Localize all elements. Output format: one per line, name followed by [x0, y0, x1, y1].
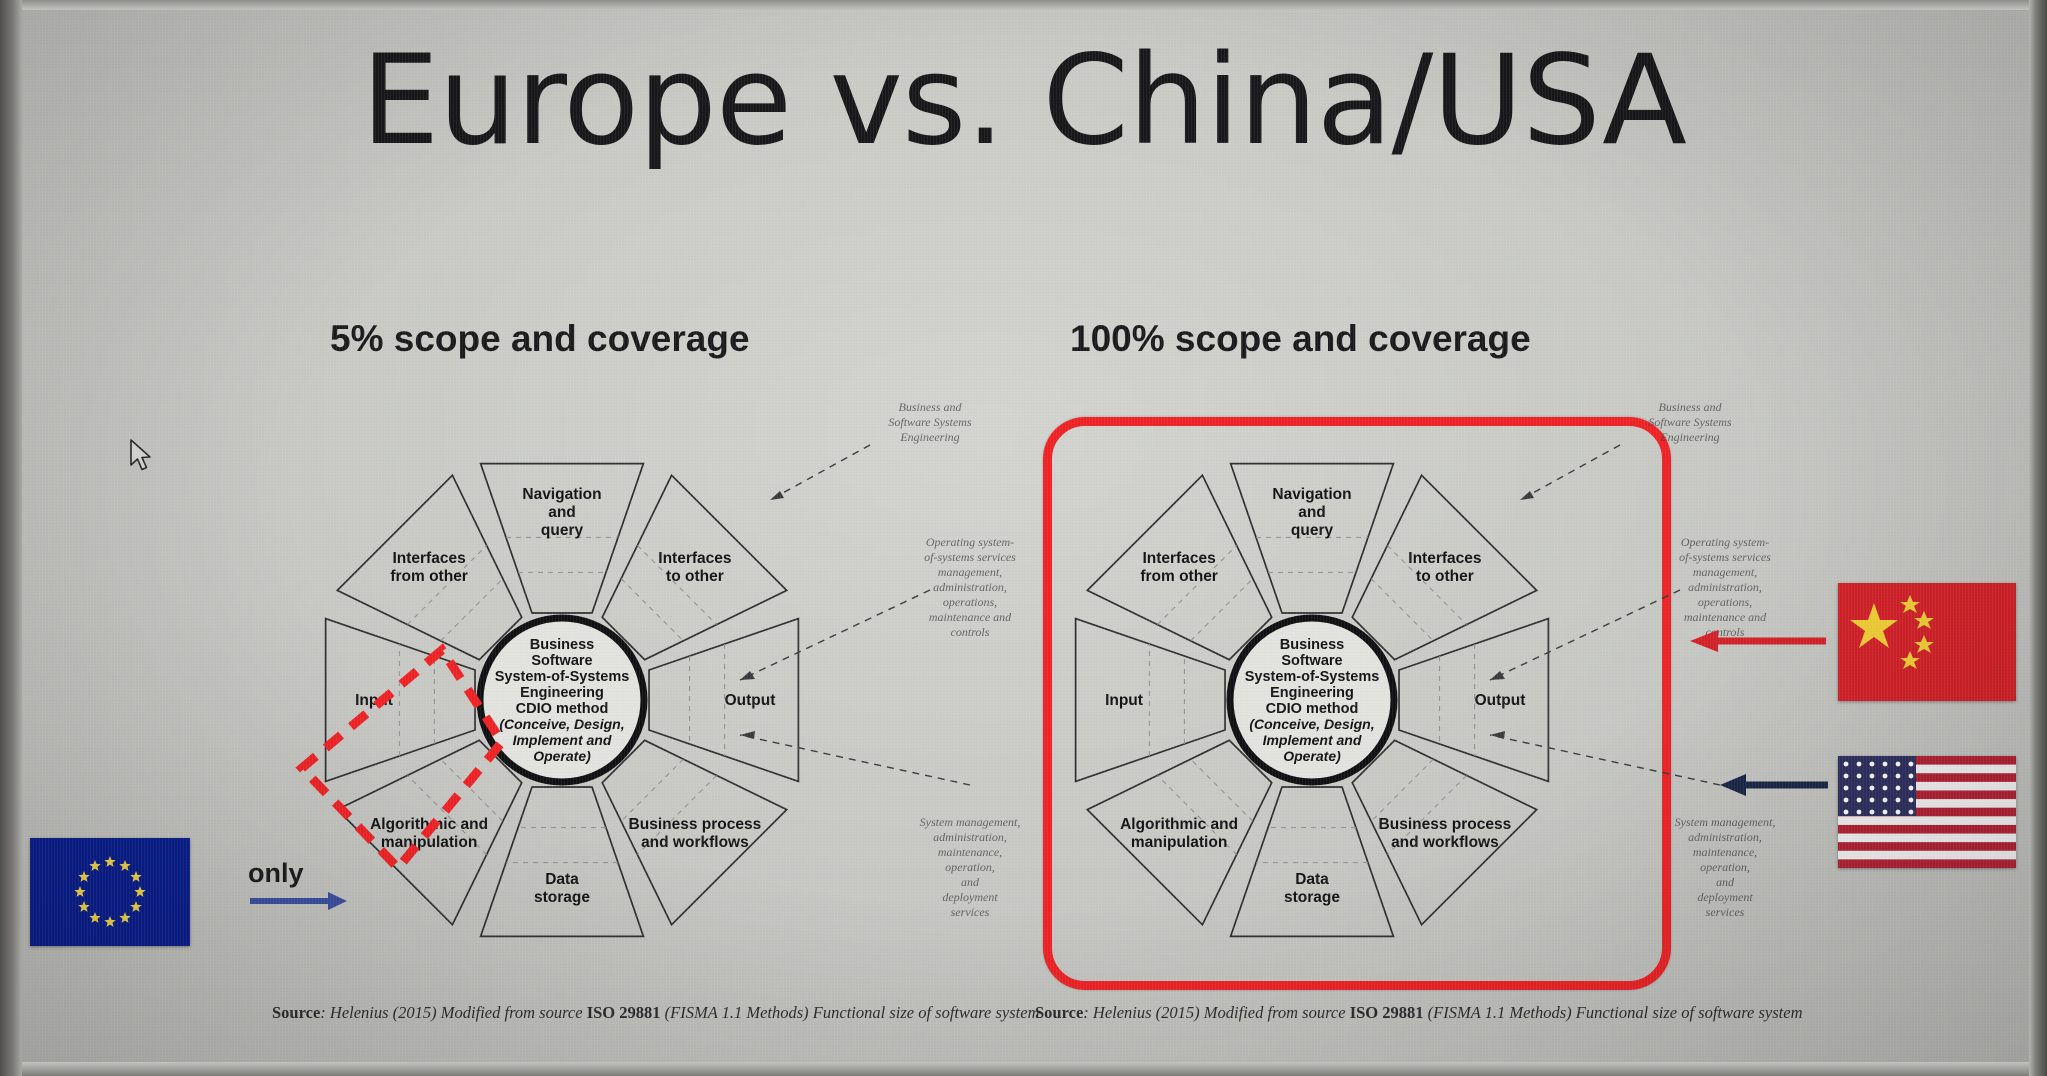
center-text-line: System-of-Systems — [495, 669, 630, 685]
annotation-line: administration, — [1660, 830, 1790, 845]
us-star — [1844, 810, 1849, 815]
annotation-line: management, — [1660, 565, 1790, 580]
subtitle-left: 5% scope and coverage — [330, 318, 750, 360]
petal-diagram-right: NavigationandqueryInterfacesto otherOutp… — [1020, 390, 1740, 1040]
source-standard: ISO 29881 — [587, 1003, 661, 1022]
center-text-line: Implement and — [513, 732, 612, 748]
china-flag-stars — [1838, 583, 2016, 701]
source-note-right: Source: Helenius (2015) Modified from so… — [1035, 1003, 1803, 1023]
center-text-line: Operate) — [533, 748, 591, 764]
center-text-line: Business — [1280, 637, 1344, 653]
petal-label-input: Input — [1105, 692, 1143, 709]
arrow-eu-to-left-panel — [248, 890, 348, 912]
us-star — [1909, 774, 1914, 779]
diagram-panel-right: NavigationandqueryInterfacesto otherOutp… — [1020, 390, 1740, 1040]
annotation-line: maintenance, — [905, 845, 1035, 860]
petal-input — [326, 619, 475, 782]
annotation-line: deployment — [1660, 890, 1790, 905]
us-star — [1857, 798, 1862, 803]
china-flag — [1838, 583, 2016, 701]
annotation-system-management-right: System management,administration,mainten… — [1660, 815, 1790, 920]
annotation-line: System management, — [905, 815, 1035, 830]
source-standard: ISO 29881 — [1350, 1003, 1424, 1022]
annotation-line: System management, — [1660, 815, 1790, 830]
us-stripe — [1838, 825, 2016, 834]
arrow-usa-to-right-panel — [1718, 772, 1830, 798]
center-text-line: Implement and — [1263, 732, 1362, 748]
annotation-line: Operating system- — [1660, 535, 1790, 550]
petal-label-navigation: Navigationandquery — [1272, 486, 1351, 539]
page-title: Europe vs. China/USA — [0, 36, 2047, 166]
us-star — [1870, 798, 1875, 803]
petal-label-interfaces-to-other: Interfacesto other — [1408, 550, 1481, 585]
us-star — [1844, 786, 1849, 791]
photo-edge-right — [2029, 0, 2047, 1076]
usa-flag-stripes — [1838, 756, 2016, 868]
us-star — [1857, 810, 1862, 815]
annotation-line: Business and — [865, 400, 995, 415]
annotation-line: maintenance and — [905, 610, 1035, 625]
annotation-line: deployment — [905, 890, 1035, 905]
annotation-line: Operating system- — [905, 535, 1035, 550]
petal-label-business-process: Business processand workflows — [629, 816, 762, 851]
petal-label-business-process: Business processand workflows — [1379, 816, 1512, 851]
usa-flag — [1838, 756, 2016, 868]
annotation-line: Software Systems — [865, 415, 995, 430]
petal-diagram-left: NavigationandqueryInterfacesto otherOutp… — [270, 390, 990, 1040]
us-star — [1870, 774, 1875, 779]
annotation-line: of-systems services — [1660, 550, 1790, 565]
us-star — [1883, 786, 1888, 791]
source-label: Source — [1035, 1003, 1083, 1022]
center-text-line: Software — [531, 653, 592, 669]
petal-data-storage — [1231, 787, 1394, 936]
petal-label-output: Output — [1475, 692, 1526, 709]
us-star — [1857, 774, 1862, 779]
petal-label-interfaces-to-other: Interfacesto other — [658, 550, 731, 585]
us-star — [1844, 774, 1849, 779]
annotation-line: Engineering — [1625, 430, 1755, 445]
center-text-line: Operate) — [1283, 748, 1341, 764]
center-text-line: System-of-Systems — [1245, 669, 1380, 685]
us-star — [1909, 798, 1914, 803]
annotation-business-software-systems-engineering-left: Business andSoftware SystemsEngineering — [865, 400, 995, 445]
us-star — [1909, 762, 1914, 767]
annotation-line: of-systems services — [905, 550, 1035, 565]
annotation-line: management, — [905, 565, 1035, 580]
center-text-line: CDIO method — [516, 701, 609, 717]
annotation-line: operations, — [905, 595, 1035, 610]
only-label: only — [248, 858, 304, 889]
us-stripe — [1838, 859, 2016, 868]
eu-flag-stars — [30, 838, 190, 946]
us-star — [1909, 810, 1914, 815]
us-star — [1870, 786, 1875, 791]
annotation-line: operation, — [905, 860, 1035, 875]
center-text-line: CDIO method — [1266, 701, 1359, 717]
annotation-operating-system-services-left: Operating system-of-systems servicesmana… — [905, 535, 1035, 640]
us-star — [1870, 762, 1875, 767]
annotation-line: administration, — [1660, 580, 1790, 595]
annotation-line: services — [1660, 905, 1790, 920]
center-text-line: Software — [1281, 653, 1342, 669]
annotation-line: services — [905, 905, 1035, 920]
petal-label-output: Output — [725, 692, 776, 709]
us-star — [1896, 786, 1901, 791]
us-star — [1883, 774, 1888, 779]
us-star — [1870, 810, 1875, 815]
petal-label-algorithmic: Algorithmic andmanipulation — [1120, 816, 1238, 851]
annotation-line: Engineering — [865, 430, 995, 445]
mouse-cursor — [128, 438, 156, 474]
us-stripe — [1838, 842, 2016, 851]
annotation-line: maintenance and — [1660, 610, 1790, 625]
source-label: Source — [272, 1003, 320, 1022]
us-star — [1857, 762, 1862, 767]
petal-input — [1076, 619, 1225, 782]
us-star — [1896, 762, 1901, 767]
annotation-line: and — [905, 875, 1035, 890]
us-star — [1909, 786, 1914, 791]
slide-screenshot: Europe vs. China/USA 5% scope and covera… — [0, 0, 2047, 1076]
annotation-line: administration, — [905, 830, 1035, 845]
petal-label-data-storage: Datastorage — [534, 871, 590, 906]
annotation-system-management-left: System management,administration,mainten… — [905, 815, 1035, 920]
arrow-china-to-right-panel — [1688, 628, 1828, 654]
center-text-line: Engineering — [520, 685, 604, 701]
annotation-line: operation, — [1660, 860, 1790, 875]
us-star — [1857, 786, 1862, 791]
eu-flag — [30, 838, 190, 946]
petal-label-navigation: Navigationandquery — [522, 486, 601, 539]
center-text-line: Business — [530, 637, 594, 653]
us-star — [1896, 798, 1901, 803]
us-star — [1896, 774, 1901, 779]
petal-label-interfaces-from-other: Interfacesfrom other — [1140, 550, 1218, 585]
diagram-panel-left: NavigationandqueryInterfacesto otherOutp… — [270, 390, 990, 1040]
photo-edge-bottom — [0, 1062, 2047, 1076]
photo-edge-top — [0, 0, 2047, 10]
annotation-line: maintenance, — [1660, 845, 1790, 860]
annotation-line: Business and — [1625, 400, 1755, 415]
us-star — [1844, 762, 1849, 767]
center-text-line: Engineering — [1270, 685, 1354, 701]
annotation-line: operations, — [1660, 595, 1790, 610]
source-note-left: Source: Helenius (2015) Modified from so… — [272, 1003, 1040, 1023]
annotation-operating-system-services-right: Operating system-of-systems servicesmana… — [1660, 535, 1790, 640]
photo-edge-left — [0, 0, 22, 1076]
center-text-line: (Conceive, Design, — [1249, 716, 1374, 732]
us-star — [1883, 810, 1888, 815]
annotation-line: and — [1660, 875, 1790, 890]
center-text-line: (Conceive, Design, — [499, 716, 624, 732]
petal-label-data-storage: Datastorage — [1284, 871, 1340, 906]
petal-label-input: Input — [355, 692, 393, 709]
petal-label-algorithmic: Algorithmic andmanipulation — [370, 816, 488, 851]
annotation-line: administration, — [905, 580, 1035, 595]
annotation-line: controls — [905, 625, 1035, 640]
us-star — [1896, 810, 1901, 815]
annotation-business-software-systems-engineering-right: Business andSoftware SystemsEngineering — [1625, 400, 1755, 445]
us-star — [1883, 762, 1888, 767]
petal-data-storage — [481, 787, 644, 936]
us-star — [1844, 798, 1849, 803]
us-star — [1883, 798, 1888, 803]
petal-label-interfaces-from-other: Interfacesfrom other — [390, 550, 468, 585]
subtitle-right: 100% scope and coverage — [1070, 318, 1531, 360]
annotation-line: Software Systems — [1625, 415, 1755, 430]
